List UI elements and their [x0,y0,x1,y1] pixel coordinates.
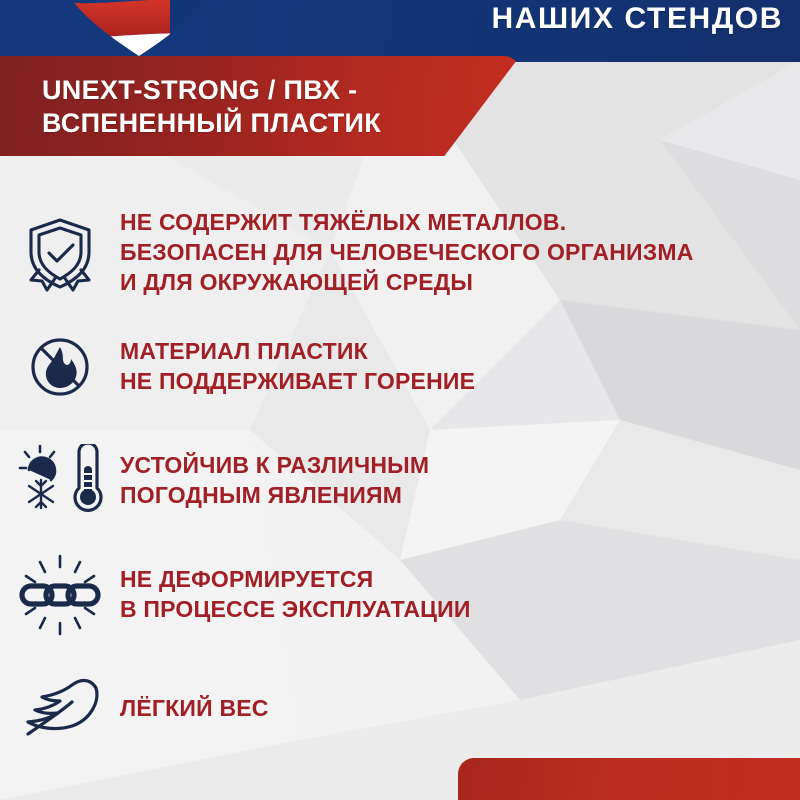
bottom-red-bar [458,758,800,800]
shield-check-badge-icon [0,211,120,295]
product-title: UNEXT-STRONG / ПВХ - ВСПЕНЕННЫЙ ПЛАСТИК [42,74,381,141]
feature-row: НЕ СОДЕРЖИТ ТЯЖЁЛЫХ МЕТАЛЛОВ. БЕЗОПАСЕН … [0,196,800,310]
no-fire-icon [0,325,120,409]
feature-row: УСТОЙЧИВ К РАЗЛИЧНЫМ ПОГОДНЫМ ЯВЛЕНИЯМ [0,424,800,538]
feature-row: МАТЕРИАЛ ПЛАСТИК НЕ ПОДДЕРЖИВАЕТ ГОРЕНИЕ [0,310,800,424]
feature-text: УСТОЙЧИВ К РАЗЛИЧНЫМ ПОГОДНЫМ ЯВЛЕНИЯМ [120,451,800,511]
russian-flag-ribbon-logo [50,0,228,60]
feature-text: НЕ СОДЕРЖИТ ТЯЖЁЛЫХ МЕТАЛЛОВ. БЕЗОПАСЕН … [120,208,800,298]
red-ribbon-banner: UNEXT-STRONG / ПВХ - ВСПЕНЕННЫЙ ПЛАСТИК [0,56,520,156]
poster-canvas: НАШИХ СТЕНДОВ UNEXT-STRONG / ПВХ - ВСПЕН… [0,0,800,800]
feature-text: НЕ ДЕФОРМИРУЕТСЯ В ПРОЦЕССЕ ЭКСПЛУАТАЦИИ [120,565,800,625]
feature-text: ЛЁГКИЙ ВЕС [120,694,800,724]
band-title: НАШИХ СТЕНДОВ [492,2,783,36]
feature-row: ЛЁГКИЙ ВЕС [0,652,800,766]
feather-icon [0,667,120,751]
feature-list: НЕ СОДЕРЖИТ ТЯЖЁЛЫХ МЕТАЛЛОВ. БЕЗОПАСЕН … [0,196,800,766]
chain-link-icon [0,553,120,637]
feature-text: МАТЕРИАЛ ПЛАСТИК НЕ ПОДДЕРЖИВАЕТ ГОРЕНИЕ [120,337,800,397]
weather-thermometer-icon [0,439,120,523]
feature-row: НЕ ДЕФОРМИРУЕТСЯ В ПРОЦЕССЕ ЭКСПЛУАТАЦИИ [0,538,800,652]
